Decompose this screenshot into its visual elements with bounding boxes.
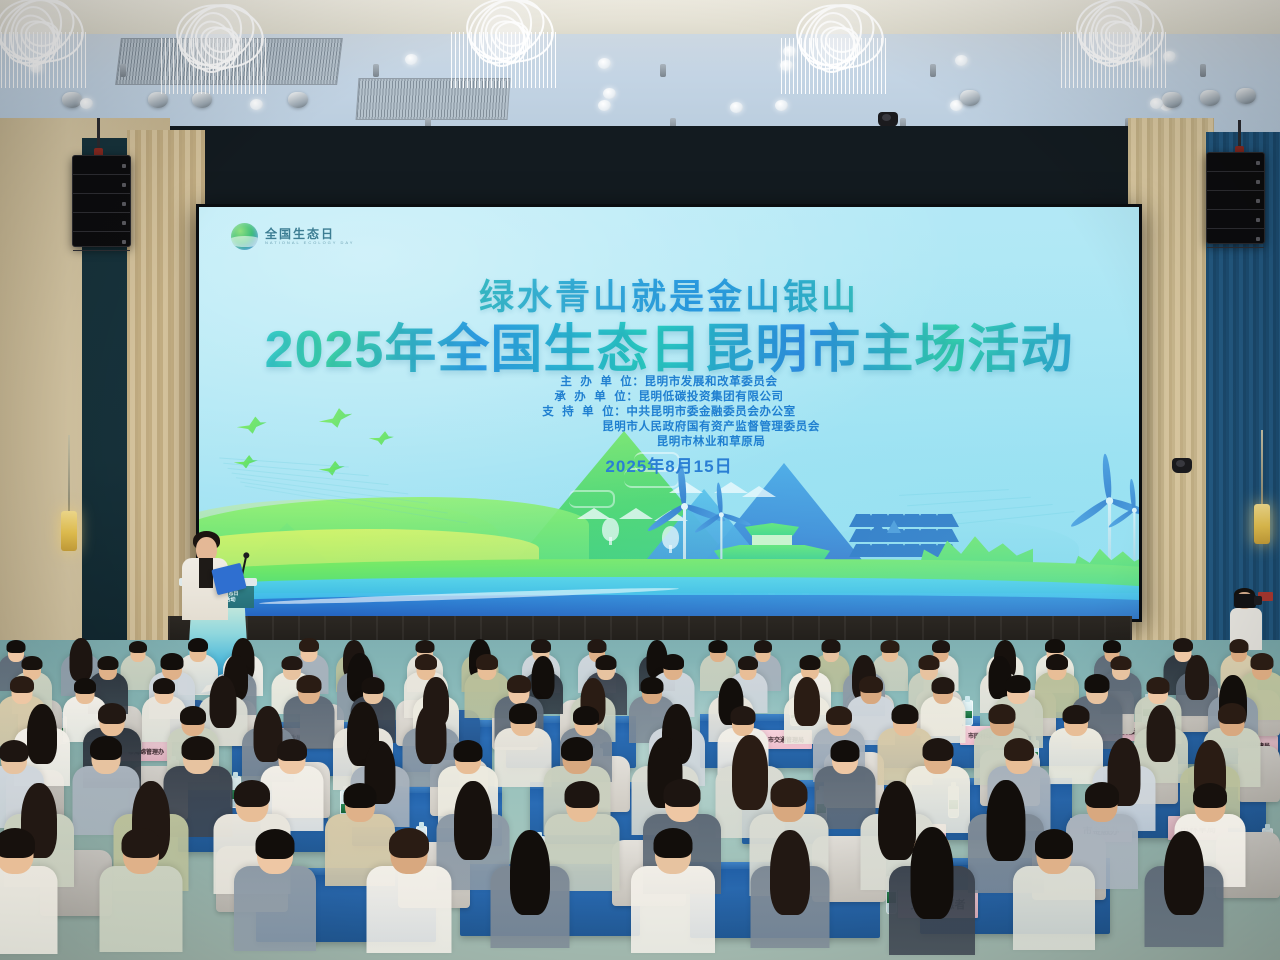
- audience-hair: [1063, 705, 1090, 724]
- ceiling-track-light: [373, 64, 379, 77]
- ceiling-downlight: [783, 46, 796, 57]
- ceiling-downlight: [1150, 98, 1163, 109]
- audience-hair: [476, 654, 498, 670]
- conference-hall-photo: 全国生态日 NATIONAL ECOLOGY DAY 绿水青山就是金山银山 20…: [0, 0, 1280, 960]
- ceiling-downlight: [598, 100, 611, 111]
- audience-member: [0, 828, 58, 958]
- organizer-row: 昆明市林业和草原局: [199, 435, 1139, 450]
- speaker-inner-top: [199, 558, 213, 588]
- organizer-label: 承办单位: [554, 390, 626, 405]
- audience-hair: [1147, 677, 1170, 694]
- audience-hair: [97, 656, 118, 670]
- audience-hair: [1006, 675, 1031, 693]
- event-date: 2025年8月15日: [199, 452, 1139, 477]
- audience-hair: [1111, 656, 1132, 670]
- organizer-label: 主办单位: [560, 375, 632, 390]
- ceiling-spotlight: [1200, 90, 1220, 106]
- audience-hair: [98, 703, 126, 724]
- audience-hair: [1250, 653, 1273, 670]
- air-vent: [356, 78, 511, 120]
- audience-member: [99, 828, 182, 956]
- audience-hair: [531, 639, 551, 653]
- audience-hair: [361, 677, 384, 694]
- screen-headline: 2025年全国生态日昆明市主场活动: [199, 307, 1139, 382]
- audience-hair: [415, 654, 437, 670]
- audience-member: [751, 830, 830, 952]
- ceiling-downlight: [405, 54, 418, 65]
- audience-hair: [919, 655, 940, 670]
- audience-hair: [277, 739, 307, 761]
- audience-hair: [1173, 638, 1193, 652]
- audience-hair: [90, 736, 122, 760]
- ceiling-spotlight: [148, 92, 168, 108]
- audience-hair: [826, 706, 852, 725]
- organizer-row: 支持单位：中共昆明市委金融委员会办公室: [199, 405, 1139, 420]
- organizer-row: 主办单位：昆明市发展和改革委员会: [199, 375, 1139, 390]
- organizer-value: 昆明市人民政府国有资产监督管理委员会: [602, 421, 820, 433]
- audience-hair: [0, 740, 28, 762]
- ceiling-spotlight: [288, 92, 308, 108]
- audience-hair: [1164, 831, 1204, 915]
- audience-torso: [234, 866, 316, 951]
- pendant-lamp-rod: [1261, 430, 1263, 506]
- audience-hair: [881, 640, 900, 653]
- audience-member: [234, 829, 316, 955]
- audience-hair: [1084, 674, 1109, 693]
- audience-torso: [631, 866, 715, 953]
- audience-hair: [1046, 654, 1068, 670]
- audience-hair: [708, 640, 727, 653]
- air-vent: [115, 38, 343, 85]
- audience-torso: [99, 866, 182, 952]
- ceiling-downlight: [1140, 56, 1153, 67]
- audience-hair: [453, 740, 482, 762]
- audience-hair: [1004, 738, 1034, 761]
- audience-hair: [510, 830, 550, 915]
- audience-hair: [416, 640, 435, 653]
- ceiling-spotlight: [1162, 92, 1182, 108]
- audience-torso: [1013, 866, 1095, 950]
- audience-hair: [188, 638, 208, 652]
- ceiling-downlight: [250, 99, 263, 110]
- audience-hair: [389, 828, 429, 858]
- audience-hair: [507, 675, 531, 693]
- audience-hair: [1035, 829, 1073, 859]
- ceiling-projector: [878, 112, 898, 127]
- audience-member: [367, 828, 452, 957]
- audience-hair: [587, 639, 606, 653]
- ceiling-band: [0, 0, 1280, 34]
- audience-hair: [509, 703, 537, 724]
- audience-hair: [256, 829, 295, 859]
- ceiling-downlight: [598, 58, 611, 69]
- ceiling-track-light: [660, 64, 666, 77]
- audience-hair: [641, 677, 664, 694]
- ceiling-downlight: [80, 98, 93, 109]
- line-array-speaker-right: [1206, 152, 1265, 244]
- ceiling-spotlight: [960, 90, 980, 106]
- audience-member: [1144, 831, 1223, 951]
- audience-member: [1013, 829, 1095, 954]
- ceiling-track-light: [120, 64, 126, 77]
- audience-hair: [859, 676, 883, 693]
- line-array-speaker-left: [72, 155, 131, 247]
- audience-hair: [1103, 640, 1121, 653]
- organizer-value: 中共昆明市委金融委员会办公室: [626, 406, 795, 418]
- audience-hair: [343, 783, 376, 808]
- ceiling-downlight: [730, 102, 743, 113]
- audience-hair: [831, 740, 860, 762]
- audience-hair: [596, 655, 617, 670]
- audience-hair: [6, 640, 25, 653]
- audience-hair: [129, 641, 147, 653]
- audience-hair: [299, 638, 319, 652]
- pendant-lamp-left: [61, 511, 77, 551]
- audience-hair: [1193, 783, 1227, 808]
- ceiling-track-light: [930, 64, 936, 77]
- audience-hair: [234, 780, 270, 807]
- organizer-value: 昆明低碳投资集团有限公司: [638, 391, 783, 403]
- audience-hair: [160, 653, 183, 670]
- audience-torso: [367, 866, 452, 953]
- logo-text: 全国生态日: [265, 228, 354, 241]
- audience-hair: [932, 640, 950, 653]
- audience-hair: [565, 781, 600, 808]
- ceiling-downlight: [955, 55, 968, 66]
- audience-hair: [454, 781, 492, 860]
- ptz-camera-icon: [1172, 458, 1192, 473]
- ceiling-spotlight: [1236, 88, 1256, 104]
- organizer-value: 昆明市林业和草原局: [657, 436, 766, 448]
- ceiling-downlight: [30, 62, 43, 73]
- audience-hair: [738, 656, 758, 670]
- audience-member: [631, 828, 715, 957]
- audience-hair: [0, 828, 35, 858]
- audience-hair: [182, 736, 215, 760]
- speaker-rigging: [97, 118, 100, 152]
- audience-hair: [770, 830, 810, 915]
- organizer-row: 承办单位：昆明低碳投资集团有限公司: [199, 390, 1139, 405]
- led-screen: 全国生态日 NATIONAL ECOLOGY DAY 绿水青山就是金山银山 20…: [196, 204, 1142, 622]
- pendant-lamp-rod: [68, 435, 70, 513]
- organizer-row: 昆明市人民政府国有资产监督管理委员会: [199, 420, 1139, 435]
- ceiling: [0, 0, 1280, 142]
- national-ecology-day-logo: 全国生态日 NATIONAL ECOLOGY DAY: [231, 223, 354, 250]
- audience-hair: [74, 678, 96, 694]
- audience-member: [490, 830, 569, 952]
- audience-hair: [1045, 639, 1065, 653]
- organizer-value: 昆明市发展和改革委员会: [645, 376, 778, 388]
- audience-hair: [932, 677, 955, 694]
- audience-hair: [663, 779, 700, 807]
- audience-hair: [1218, 703, 1246, 724]
- organizer-list: 主办单位：昆明市发展和改革委员会承办单位：昆明低碳投资集团有限公司支持单位：中共…: [199, 375, 1139, 450]
- ceiling-downlight: [603, 88, 616, 99]
- ceiling-downlight: [1163, 51, 1176, 62]
- audience-hair: [281, 656, 302, 670]
- audience-hair: [10, 676, 34, 693]
- ceiling-spotlight: [62, 92, 82, 108]
- audience-hair: [770, 778, 807, 807]
- camera-icon: [1234, 594, 1256, 608]
- audience-hair: [989, 704, 1016, 724]
- audience-hair: [1085, 782, 1119, 808]
- audience-hair: [800, 655, 821, 670]
- audience-hair: [561, 737, 593, 761]
- audience-hair: [754, 640, 772, 653]
- audience-hair: [22, 656, 43, 670]
- ceiling-downlight: [780, 60, 793, 71]
- audience-hair: [1185, 655, 1209, 700]
- ceiling-track-light: [1200, 64, 1206, 77]
- audience-hair: [891, 704, 918, 724]
- audience-hair: [923, 738, 954, 761]
- audience-member: [889, 827, 975, 959]
- audience-torso: [0, 866, 58, 954]
- organizer-label: 支持单位: [542, 405, 614, 420]
- audience-hair: [662, 654, 684, 670]
- audience-hair: [180, 706, 206, 725]
- audience-hair: [121, 828, 160, 858]
- audience-hair: [296, 675, 321, 693]
- audience-hair: [153, 678, 175, 694]
- audience-hair: [911, 827, 954, 919]
- ceiling-spotlight: [192, 92, 212, 108]
- audience-hair: [654, 828, 693, 858]
- logo-globe-icon: [231, 223, 258, 250]
- pendant-lamp-right: [1254, 504, 1270, 544]
- audience-hair: [573, 706, 599, 725]
- ceiling-downlight: [775, 100, 788, 111]
- audience-hair: [1230, 639, 1249, 653]
- audience-hair: [822, 639, 841, 653]
- audience-hair: [730, 706, 755, 725]
- logo-subtitle: NATIONAL ECOLOGY DAY: [265, 240, 354, 245]
